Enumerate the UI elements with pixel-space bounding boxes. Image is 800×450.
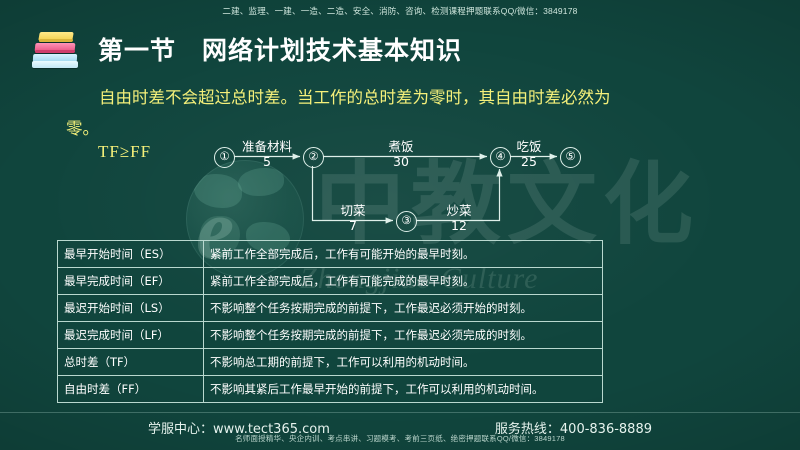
- term-cell: 最早开始时间（ES）: [58, 241, 204, 268]
- network-node-4: ④: [490, 147, 511, 168]
- page-title: 第一节网络计划技术基本知识: [98, 31, 462, 67]
- table-row: 最早完成时间（EF） 紧前工作全部完成后，工作有可能完成的最早时刻。: [58, 268, 603, 295]
- term-cell: 总时差（TF）: [58, 349, 204, 376]
- books-stack-icon: [30, 27, 82, 71]
- table-row: 自由时差（FF） 不影响其紧后工作最早开始的前提下，工作可以利用的机动时间。: [58, 376, 603, 403]
- table-row: 最迟开始时间（LS） 不影响整个任务按期完成的前提下，工作最迟必须开始的时刻。: [58, 295, 603, 322]
- top-promo-text: 二建、监理、一建、一造、二造、安全、消防、咨询、检测课程押题联系QQ/微信：38…: [0, 5, 800, 17]
- time-parameters-table: 最早开始时间（ES） 紧前工作全部完成后，工作有可能开始的最早时刻。 最早完成时…: [57, 240, 603, 403]
- table-row: 最早开始时间（ES） 紧前工作全部完成后，工作有可能开始的最早时刻。: [58, 241, 603, 268]
- activity-duration: 12: [420, 218, 498, 233]
- term-cell: 最早完成时间（EF）: [58, 268, 204, 295]
- definition-cell: 不影响整个任务按期完成的前提下，工作最迟必须完成的时刻。: [204, 322, 603, 349]
- network-activity-cut-vegetables: 切菜 7: [314, 203, 392, 233]
- activity-duration: 5: [228, 154, 306, 169]
- activity-duration: 25: [498, 154, 560, 169]
- term-cell: 最迟开始时间（LS）: [58, 295, 204, 322]
- definition-cell: 不影响其紧后工作最早开始的前提下，工作可以利用的机动时间。: [204, 376, 603, 403]
- definition-cell: 紧前工作全部完成后，工作有可能开始的最早时刻。: [204, 241, 603, 268]
- section-label: 第一节: [98, 36, 176, 65]
- body-paragraph: 自由时差不会超过总时差。当工作的总时差为零时，其自由时差必然为零。: [66, 82, 626, 144]
- activity-duration: 7: [314, 218, 392, 233]
- term-cell: 自由时差（FF）: [58, 376, 204, 403]
- slide-header: 第一节网络计划技术基本知识: [30, 27, 462, 71]
- title-text: 网络计划技术基本知识: [202, 36, 462, 65]
- activity-name: 切菜: [314, 203, 392, 218]
- activity-duration: 30: [362, 154, 440, 169]
- footer-divider: [0, 412, 800, 413]
- footer-fine-print: 名师面授精华、央企内训、考点串讲、习题模考、考前三页纸、绝密押题联系QQ/微信：…: [0, 433, 800, 444]
- definition-cell: 不影响总工期的前提下，工作可以利用的机动时间。: [204, 349, 603, 376]
- formula-tf-ge-ff: TF≥FF: [98, 142, 151, 162]
- definition-cell: 不影响整个任务按期完成的前提下，工作最迟必须开始的时刻。: [204, 295, 603, 322]
- definition-cell: 紧前工作全部完成后，工作有可能完成的最早时刻。: [204, 268, 603, 295]
- table-row: 最迟完成时间（LF） 不影响整个任务按期完成的前提下，工作最迟必须完成的时刻。: [58, 322, 603, 349]
- network-node-1: ①: [214, 147, 235, 168]
- activity-name: 炒菜: [420, 203, 498, 218]
- table-row: 总时差（TF） 不影响总工期的前提下，工作可以利用的机动时间。: [58, 349, 603, 376]
- network-node-2: ②: [303, 147, 324, 168]
- network-node-5: ⑤: [560, 147, 581, 168]
- slide-canvas: e 中教文化 Zhongjiao Culture 二建、监理、一建、一造、二造、…: [0, 0, 800, 450]
- network-activity-stir-fry: 炒菜 12: [420, 203, 498, 233]
- term-cell: 最迟完成时间（LF）: [58, 322, 204, 349]
- network-node-3: ③: [396, 211, 417, 232]
